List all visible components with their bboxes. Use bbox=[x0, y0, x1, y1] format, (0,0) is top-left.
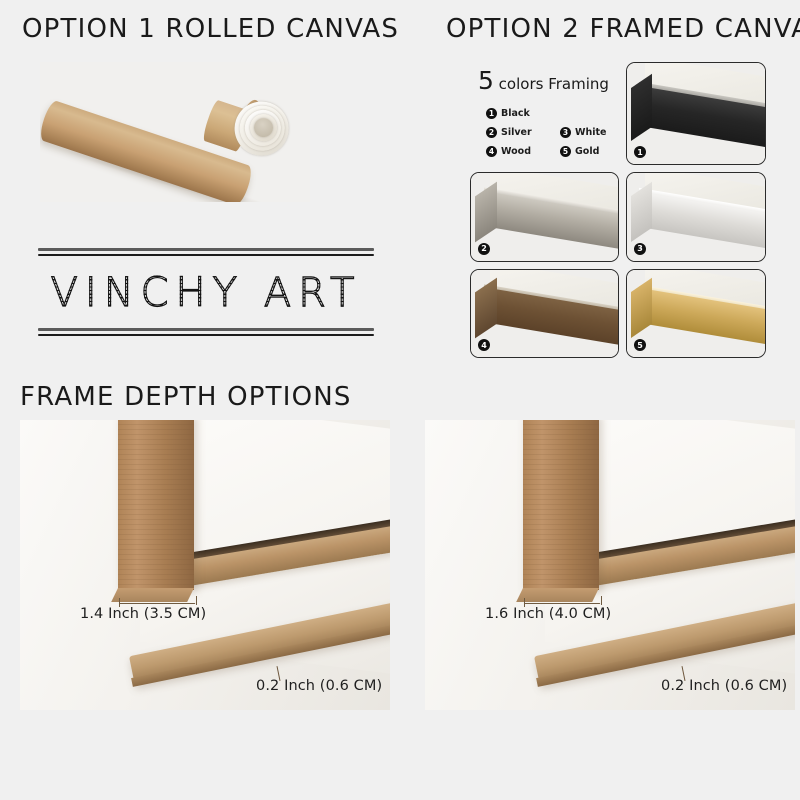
badge-1: 1 bbox=[486, 108, 497, 119]
legend-item-black: 1 Black bbox=[486, 108, 543, 119]
badge-2: 2 bbox=[486, 127, 497, 138]
depth-width-label-right: 1.6 Inch (4.0 CM) bbox=[485, 606, 611, 622]
legend-item-white: 3 White bbox=[560, 127, 617, 138]
logo-rule-top-thick bbox=[38, 248, 374, 251]
swatch-card-gold[interactable]: 5 bbox=[626, 269, 766, 359]
badge-3: 3 bbox=[560, 127, 571, 138]
swatch-card-silver[interactable]: 2 bbox=[470, 172, 619, 262]
frame-stile-end-face bbox=[516, 588, 599, 602]
rolled-canvas-end bbox=[227, 93, 298, 164]
badge-4: 4 bbox=[486, 146, 497, 157]
badge-5: 5 bbox=[560, 146, 571, 157]
framing-color-grid: 5 colors Framing 1 Black 2 Silver 3 bbox=[470, 62, 766, 358]
frame-corner-photo-white bbox=[627, 173, 765, 261]
logo-wordmark: VINCHY ART bbox=[38, 272, 374, 314]
depth-width-label-left: 1.4 Inch (3.5 CM) bbox=[80, 606, 206, 622]
logo-rule-top-thin bbox=[38, 254, 374, 256]
option2-heading: OPTION 2 FRAMED CANVAS bbox=[446, 14, 800, 44]
legend-label-silver: Silver bbox=[501, 127, 532, 138]
legend-label-gold: Gold bbox=[575, 146, 599, 157]
rolled-canvas-photo bbox=[40, 62, 310, 202]
legend-title-rest: colors Framing bbox=[494, 75, 609, 93]
legend-title: 5 colors Framing bbox=[478, 66, 617, 95]
legend-count: 5 bbox=[478, 66, 494, 95]
frame-stile-vertical bbox=[523, 420, 599, 590]
depth-thickness-label-left: 0.2 Inch (0.6 CM) bbox=[256, 678, 382, 694]
legend-row: 4 Wood 5 Gold bbox=[486, 146, 617, 157]
option1-heading: OPTION 1 ROLLED CANVAS bbox=[22, 14, 399, 44]
framing-legend: 5 colors Framing 1 Black 2 Silver 3 bbox=[470, 62, 619, 165]
frame-stile-vertical bbox=[118, 420, 194, 590]
frame-corner-photo-black bbox=[627, 63, 765, 164]
frame-depth-heading: FRAME DEPTH OPTIONS bbox=[20, 382, 352, 412]
legend-label-black: Black bbox=[501, 108, 530, 119]
frame-stile-end-face bbox=[111, 588, 194, 602]
frame-corner-photo-gold bbox=[627, 270, 765, 358]
legend-row: 1 Black bbox=[486, 108, 617, 119]
swatch-badge-5: 5 bbox=[634, 339, 646, 351]
depth-thickness-label-right: 0.2 Inch (0.6 CM) bbox=[661, 678, 787, 694]
frame-depth-photo-right: 1.6 Inch (4.0 CM) 0.2 Inch (0.6 CM) bbox=[425, 420, 795, 710]
swatch-badge-3: 3 bbox=[634, 243, 646, 255]
width-dimension-line bbox=[119, 603, 196, 604]
width-dimension-line bbox=[524, 603, 601, 604]
frame-depth-photo-left: 1.4 Inch (3.5 CM) 0.2 Inch (0.6 CM) bbox=[20, 420, 390, 710]
legend-row: 2 Silver 3 White bbox=[486, 127, 617, 138]
swatch-badge-4: 4 bbox=[478, 339, 490, 351]
legend-item-gold: 5 Gold bbox=[560, 146, 617, 157]
logo-rule-bottom-thin bbox=[38, 334, 374, 336]
legend-label-white: White bbox=[575, 127, 606, 138]
infographic-page: OPTION 1 ROLLED CANVAS VINCHY ART OPTION… bbox=[0, 0, 800, 800]
brand-logo: VINCHY ART bbox=[38, 248, 374, 336]
swatch-badge-1: 1 bbox=[634, 146, 646, 158]
legend-item-wood: 4 Wood bbox=[486, 146, 543, 157]
swatch-badge-2: 2 bbox=[478, 243, 490, 255]
frame-corner-photo-silver bbox=[471, 173, 618, 261]
swatch-card-white[interactable]: 3 bbox=[626, 172, 766, 262]
legend-label-wood: Wood bbox=[501, 146, 531, 157]
swatch-card-wood[interactable]: 4 bbox=[470, 269, 619, 359]
logo-rule-bottom-thick bbox=[38, 328, 374, 331]
swatch-card-black[interactable]: 1 bbox=[626, 62, 766, 165]
legend-item-silver: 2 Silver bbox=[486, 127, 543, 138]
frame-corner-photo-wood bbox=[471, 270, 618, 358]
